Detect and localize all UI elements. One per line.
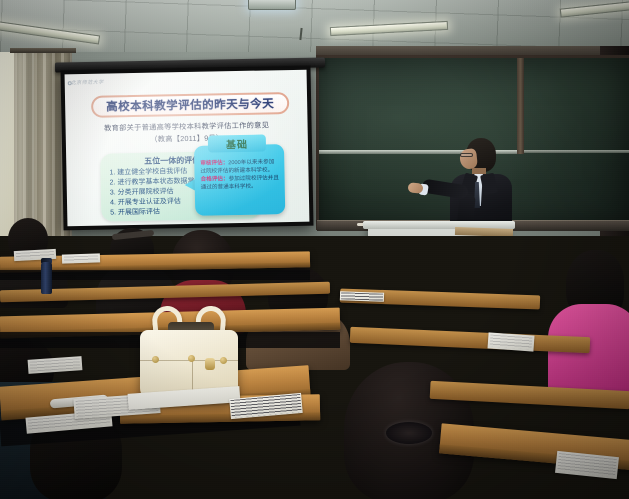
slide-callout-box: 基础 审核评估：2000年以来未参加过院校评估的新建本科学校。 合格评估：参加过… <box>194 144 285 216</box>
lecture-hall-photo: 北京师范大学 高校本科教学评估的昨天与今天 教育部关于普通高等学校本科教学评估工… <box>0 0 629 499</box>
powerpoint-slide: 北京师范大学 高校本科教学评估的昨天与今天 教育部关于普通高等学校本科教学评估工… <box>65 70 310 227</box>
water-bottle <box>41 262 52 294</box>
handbag-stud <box>220 357 227 364</box>
slide-title: 高校本科教学评估的昨天与今天 <box>106 95 274 114</box>
slide-logo-text: 北京师范大学 <box>71 79 104 87</box>
presenter-hand-gesturing <box>408 182 424 194</box>
name-card-right <box>340 291 384 302</box>
handbag-stud <box>152 356 159 363</box>
lecture-hall-seating <box>0 236 629 499</box>
callout-badge: 基础 <box>208 134 266 152</box>
handbag-charm-icon <box>205 358 215 370</box>
callout-badge-label: 基础 <box>226 136 248 151</box>
callout-keyword-1: 审核评估： <box>200 160 228 167</box>
ceiling-projector <box>248 0 296 10</box>
curtain-rod <box>10 48 76 53</box>
callout-body: 审核评估：2000年以来未参加过院校评估的新建本科学校。 合格评估：参加过院校评… <box>200 158 280 192</box>
handbag-stud <box>188 355 195 362</box>
presenter-face <box>459 148 478 170</box>
paper-sheet <box>62 253 100 263</box>
name-card-text <box>341 292 383 300</box>
slide-title-container: 高校本科教学评估的昨天与今天 <box>91 92 289 118</box>
paper-sheet <box>28 356 83 374</box>
paper-sheet <box>487 332 534 351</box>
callout-keyword-2: 合格评估： <box>201 176 229 183</box>
hair-bow <box>386 422 432 444</box>
projection-screen: 北京师范大学 高校本科教学评估的昨天与今天 教育部关于普通高等学校本科教学评估工… <box>60 66 313 231</box>
glasses-icon <box>460 153 473 157</box>
